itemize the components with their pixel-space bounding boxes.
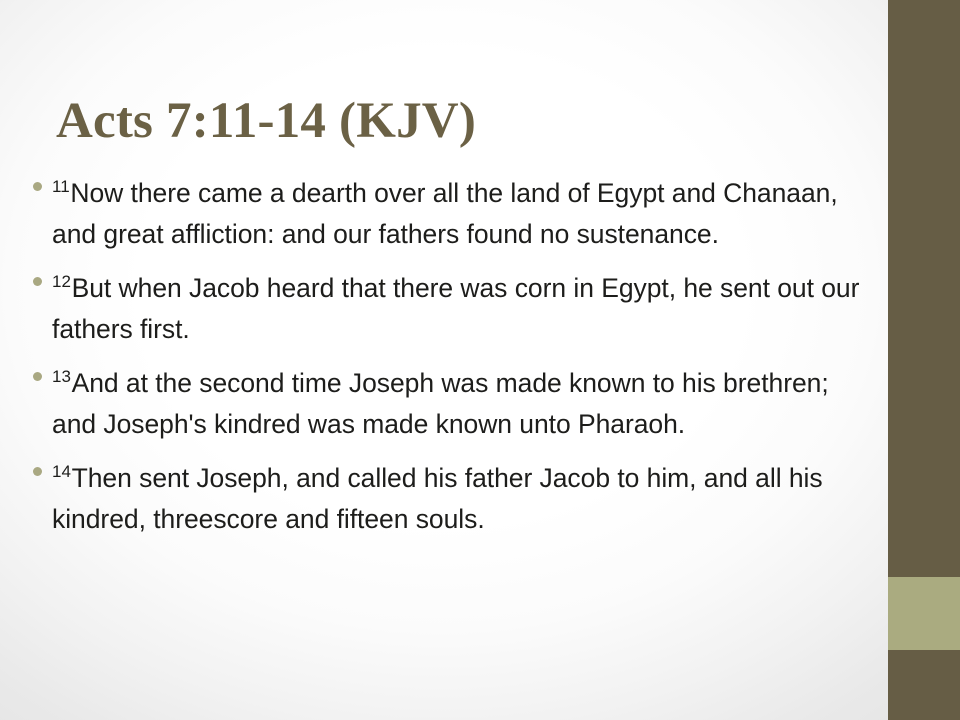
- list-item: 12But when Jacob heard that there was co…: [22, 261, 862, 350]
- list-item: 14Then sent Joseph, and called his fathe…: [22, 451, 862, 540]
- scripture-bullet-list: 11Now there came a dearth over all the l…: [22, 166, 862, 540]
- verse-text: Then sent Joseph, and called his father …: [52, 463, 823, 534]
- bullet-dot-icon: [33, 182, 42, 191]
- list-item: 13And at the second time Joseph was made…: [22, 356, 862, 445]
- verse-number: 11: [52, 177, 70, 196]
- sidebar-band-bottom: [888, 650, 960, 720]
- list-item: 11Now there came a dearth over all the l…: [22, 166, 862, 255]
- verse-text: Now there came a dearth over all the lan…: [52, 178, 838, 249]
- sidebar-band-top: [888, 0, 960, 577]
- bullet-dot-icon: [33, 372, 42, 381]
- verse-text: And at the second time Joseph was made k…: [52, 368, 829, 439]
- slide: Acts 7:11-14 (KJV) 11Now there came a de…: [0, 0, 960, 720]
- decorative-sidebar: [888, 0, 960, 720]
- bullet-dot-icon: [33, 277, 42, 286]
- bullet-dot-icon: [33, 467, 42, 476]
- slide-title: Acts 7:11-14 (KJV): [56, 90, 856, 152]
- sidebar-band-accent: [888, 577, 960, 650]
- verse-number: 12: [52, 272, 72, 291]
- verse-text: But when Jacob heard that there was corn…: [52, 273, 859, 344]
- verse-number: 13: [52, 367, 72, 386]
- verse-number: 14: [52, 462, 72, 481]
